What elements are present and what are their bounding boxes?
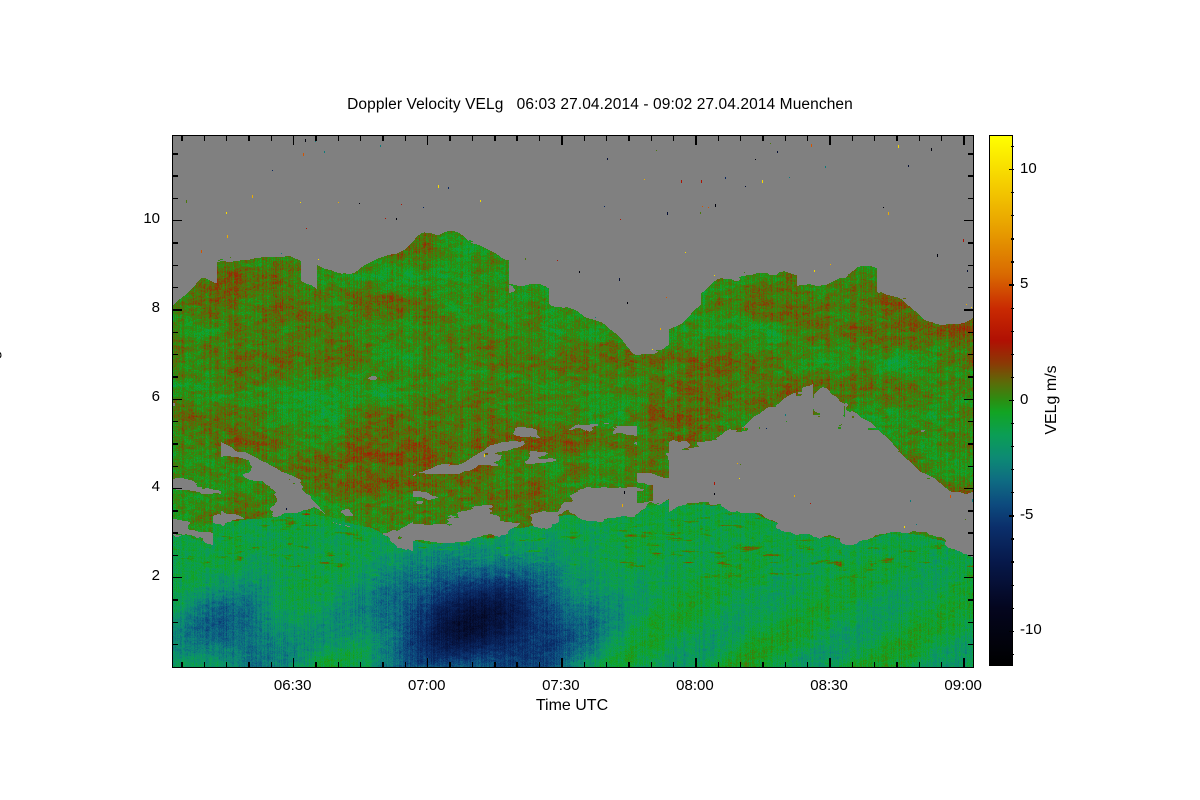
x-tick-minor — [271, 662, 272, 667]
colorbar-tick-label: 0 — [1020, 391, 1028, 408]
x-tick-minor — [494, 662, 495, 667]
x-tick-minor — [628, 136, 629, 141]
y-tick-label: 10 — [120, 210, 160, 227]
y-tick-minor — [173, 644, 178, 645]
colorbar-tick-major — [1009, 631, 1014, 632]
y-tick-minor — [968, 265, 973, 266]
x-tick-minor — [718, 662, 719, 667]
x-tick-major — [561, 136, 562, 145]
colorbar-tick-minor — [1011, 308, 1014, 309]
colorbar-tick-minor — [1011, 215, 1014, 216]
x-tick-minor — [360, 136, 361, 141]
x-tick-major — [561, 658, 562, 667]
x-tick-minor — [248, 662, 249, 667]
y-tick-major — [173, 399, 182, 400]
x-tick-minor — [762, 662, 763, 667]
x-axis-title: Time UTC — [0, 697, 1144, 715]
y-tick-label: 8 — [120, 299, 160, 316]
x-tick-minor — [718, 136, 719, 141]
x-tick-minor — [181, 136, 182, 141]
colorbar-tick-minor — [1011, 423, 1014, 424]
x-tick-minor — [315, 662, 316, 667]
y-tick-minor — [968, 242, 973, 243]
x-tick-major — [829, 658, 830, 667]
y-tick-minor — [173, 287, 178, 288]
page-title: Doppler Velocity VELg 06:03 27.04.2014 -… — [0, 96, 1200, 114]
y-tick-minor — [173, 555, 178, 556]
x-tick-minor — [516, 662, 517, 667]
x-tick-major — [293, 658, 294, 667]
y-tick-minor — [968, 354, 973, 355]
colorbar-tick-major — [1009, 169, 1014, 170]
y-tick-major — [964, 220, 973, 221]
x-tick-major — [293, 136, 294, 145]
x-tick-minor — [673, 136, 674, 141]
y-tick-label: 4 — [120, 478, 160, 495]
y-tick-minor — [173, 242, 178, 243]
x-tick-minor — [762, 136, 763, 141]
x-tick-major — [427, 136, 428, 145]
y-tick-minor — [173, 175, 178, 176]
x-tick-minor — [785, 662, 786, 667]
x-tick-major — [427, 658, 428, 667]
x-tick-minor — [248, 136, 249, 141]
x-tick-minor — [449, 662, 450, 667]
x-tick-minor — [226, 662, 227, 667]
y-tick-minor — [968, 555, 973, 556]
colorbar-title: VELg m/s — [1043, 365, 1061, 434]
x-tick-minor — [405, 136, 406, 141]
x-tick-minor — [584, 662, 585, 667]
x-tick-label: 07:00 — [382, 677, 472, 694]
x-tick-minor — [919, 136, 920, 141]
x-tick-minor — [651, 662, 652, 667]
x-tick-minor — [338, 662, 339, 667]
y-tick-minor — [173, 265, 178, 266]
colorbar-tick-minor — [1011, 585, 1014, 586]
colorbar-tick-minor — [1011, 238, 1014, 239]
x-tick-minor — [472, 136, 473, 141]
x-tick-major — [829, 136, 830, 145]
colorbar-tick-minor — [1011, 192, 1014, 193]
y-tick-major — [964, 399, 973, 400]
x-tick-minor — [785, 136, 786, 141]
colorbar-tick-major — [1009, 515, 1014, 516]
y-tick-minor — [173, 466, 178, 467]
y-tick-minor — [968, 153, 973, 154]
y-tick-minor — [968, 287, 973, 288]
colorbar-tick-minor — [1011, 354, 1014, 355]
y-axis-title: Height AGL km — [0, 276, 3, 383]
x-tick-major — [963, 658, 964, 667]
colorbar-tick-label: 5 — [1020, 275, 1028, 292]
y-tick-major — [173, 577, 182, 578]
x-tick-minor — [494, 136, 495, 141]
y-tick-major — [964, 577, 973, 578]
y-tick-minor — [173, 354, 178, 355]
x-tick-minor — [382, 136, 383, 141]
x-tick-minor — [740, 662, 741, 667]
y-tick-minor — [173, 421, 178, 422]
x-tick-minor — [919, 662, 920, 667]
colorbar-tick-minor — [1011, 446, 1014, 447]
y-tick-minor — [173, 153, 178, 154]
y-tick-minor — [968, 644, 973, 645]
x-tick-minor — [226, 136, 227, 141]
y-tick-minor — [173, 532, 178, 533]
x-tick-minor — [539, 662, 540, 667]
x-tick-minor — [472, 662, 473, 667]
x-tick-minor — [651, 136, 652, 141]
x-tick-minor — [673, 662, 674, 667]
colorbar-tick-label: 10 — [1020, 160, 1037, 177]
x-tick-label: 09:00 — [918, 677, 1008, 694]
x-tick-minor — [181, 662, 182, 667]
x-tick-minor — [807, 662, 808, 667]
y-tick-minor — [968, 175, 973, 176]
x-tick-major — [963, 136, 964, 145]
y-tick-minor — [968, 443, 973, 444]
y-tick-label: 6 — [120, 388, 160, 405]
x-tick-major — [695, 658, 696, 667]
radar-heatmap-plot — [172, 135, 974, 668]
colorbar-tick-minor — [1011, 331, 1014, 332]
y-tick-minor — [173, 332, 178, 333]
x-tick-minor — [204, 136, 205, 141]
heatmap-canvas — [173, 136, 973, 667]
x-tick-minor — [360, 662, 361, 667]
x-tick-minor — [606, 136, 607, 141]
x-tick-minor — [874, 136, 875, 141]
colorbar — [989, 135, 1013, 666]
y-tick-minor — [968, 599, 973, 600]
x-tick-minor — [405, 662, 406, 667]
y-tick-minor — [173, 198, 178, 199]
colorbar-tick-minor — [1011, 538, 1014, 539]
y-tick-minor — [968, 198, 973, 199]
x-tick-minor — [516, 136, 517, 141]
x-tick-minor — [852, 136, 853, 141]
y-tick-major — [964, 488, 973, 489]
colorbar-tick-minor — [1011, 469, 1014, 470]
x-tick-label: 07:30 — [516, 677, 606, 694]
y-tick-minor — [968, 421, 973, 422]
x-tick-minor — [941, 662, 942, 667]
y-tick-minor — [968, 510, 973, 511]
y-tick-minor — [173, 622, 178, 623]
colorbar-tick-minor — [1011, 146, 1014, 147]
y-tick-minor — [968, 332, 973, 333]
y-tick-minor — [968, 532, 973, 533]
y-tick-minor — [968, 622, 973, 623]
colorbar-tick-minor — [1011, 492, 1014, 493]
x-tick-label: 06:30 — [248, 677, 338, 694]
x-tick-minor — [271, 136, 272, 141]
colorbar-tick-minor — [1011, 654, 1014, 655]
colorbar-tick-major — [1009, 400, 1014, 401]
y-tick-label: 2 — [120, 567, 160, 584]
x-tick-minor — [941, 136, 942, 141]
x-tick-minor — [204, 662, 205, 667]
colorbar-tick-minor — [1011, 561, 1014, 562]
colorbar-tick-minor — [1011, 608, 1014, 609]
colorbar-tick-label: -10 — [1020, 621, 1042, 638]
x-tick-minor — [382, 662, 383, 667]
x-tick-minor — [896, 662, 897, 667]
x-tick-minor — [852, 662, 853, 667]
x-tick-minor — [606, 662, 607, 667]
y-tick-major — [173, 309, 182, 310]
x-tick-minor — [896, 136, 897, 141]
x-tick-minor — [315, 136, 316, 141]
x-tick-label: 08:30 — [784, 677, 874, 694]
x-tick-minor — [807, 136, 808, 141]
colorbar-tick-label: -5 — [1020, 506, 1033, 523]
y-tick-major — [173, 488, 182, 489]
colorbar-tick-major — [1009, 284, 1014, 285]
x-tick-minor — [628, 662, 629, 667]
x-tick-minor — [449, 136, 450, 141]
x-tick-major — [695, 136, 696, 145]
x-tick-minor — [584, 136, 585, 141]
y-tick-minor — [173, 443, 178, 444]
y-tick-minor — [968, 466, 973, 467]
y-tick-major — [173, 220, 182, 221]
x-tick-minor — [539, 136, 540, 141]
y-tick-minor — [968, 376, 973, 377]
colorbar-tick-minor — [1011, 261, 1014, 262]
y-tick-minor — [173, 510, 178, 511]
x-tick-label: 08:00 — [650, 677, 740, 694]
y-tick-minor — [173, 376, 178, 377]
x-tick-minor — [740, 136, 741, 141]
colorbar-tick-minor — [1011, 377, 1014, 378]
x-tick-minor — [338, 136, 339, 141]
x-tick-minor — [874, 662, 875, 667]
y-tick-minor — [173, 599, 178, 600]
y-tick-major — [964, 309, 973, 310]
